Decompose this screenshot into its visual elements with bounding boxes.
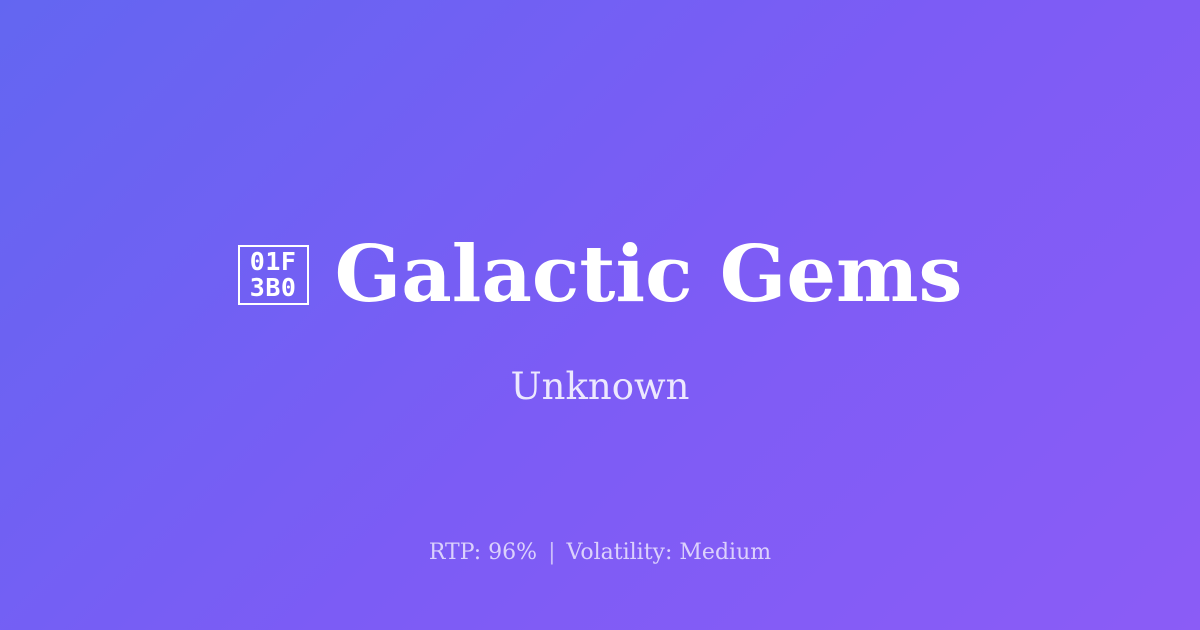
tofu-codepoint-top: 01F	[250, 249, 297, 275]
volatility-label: Volatility:	[567, 540, 673, 565]
game-provider-subtitle: Unknown	[0, 362, 1200, 412]
rtp-label: RTP:	[429, 540, 481, 565]
tofu-codepoint-bottom: 3B0	[250, 275, 297, 301]
slot-machine-emoji-missing-glyph-icon: 01F 3B0	[238, 245, 309, 305]
meta-separator: |	[544, 540, 559, 565]
game-stats-meta: RTP: 96% | Volatility: Medium	[0, 538, 1200, 568]
title-row: 01F 3B0 Galactic Gems	[0, 0, 1200, 590]
game-preview-card: 01F 3B0 Galactic Gems Unknown RTP: 96% |…	[0, 0, 1200, 630]
page-title: Galactic Gems	[335, 236, 963, 314]
volatility-value: Medium	[679, 540, 771, 565]
rtp-value: 96%	[488, 540, 537, 565]
